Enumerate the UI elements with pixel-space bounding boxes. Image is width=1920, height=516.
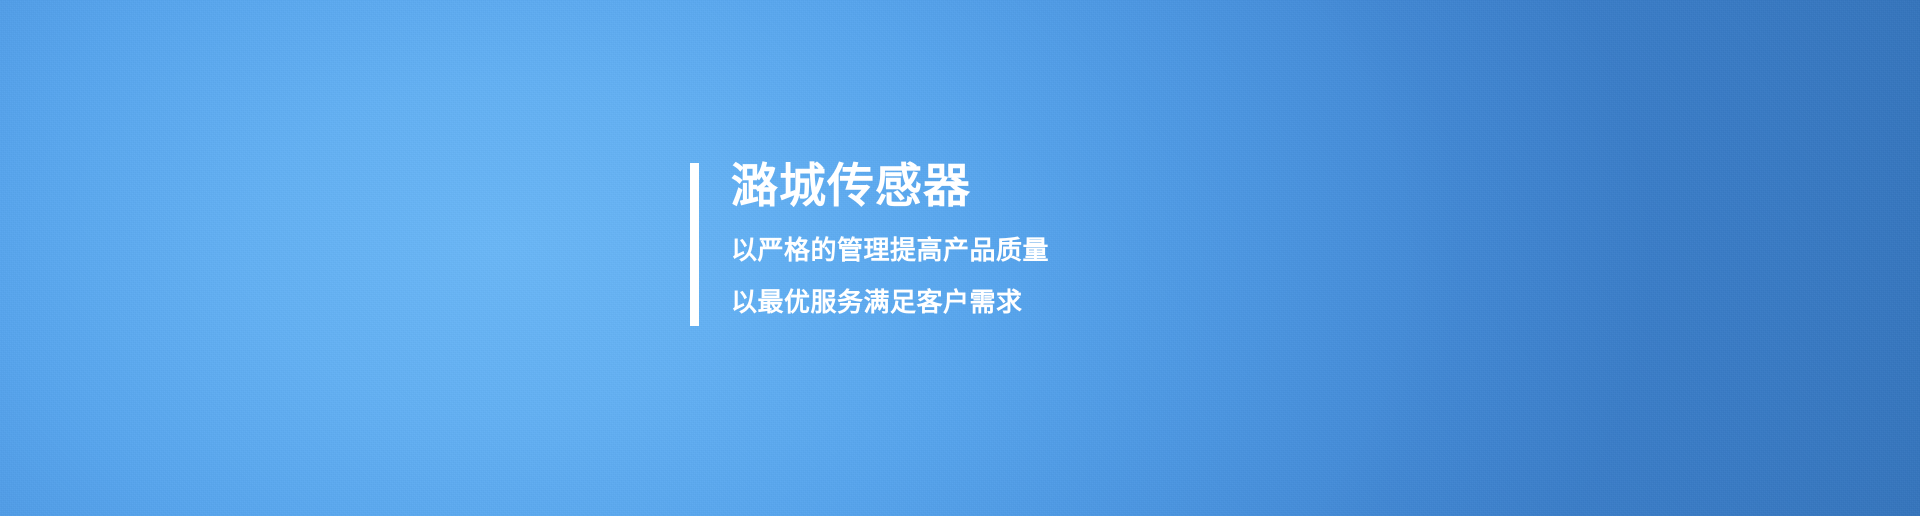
page-title: 潞城传感器: [731, 163, 1049, 211]
hero-content: 潞城传感器 以严格的管理提高产品质量 以最优服务满足客户需求: [690, 163, 1049, 326]
hero-subtitle-line-1: 以严格的管理提高产品质量: [731, 238, 1049, 264]
hero-banner: 潞城传感器 以严格的管理提高产品质量 以最优服务满足客户需求: [0, 0, 1920, 516]
hero-text-block: 潞城传感器 以严格的管理提高产品质量 以最优服务满足客户需求: [731, 163, 1049, 316]
hero-subtitle-line-2: 以最优服务满足客户需求: [731, 290, 1049, 316]
accent-bar: [690, 163, 699, 326]
